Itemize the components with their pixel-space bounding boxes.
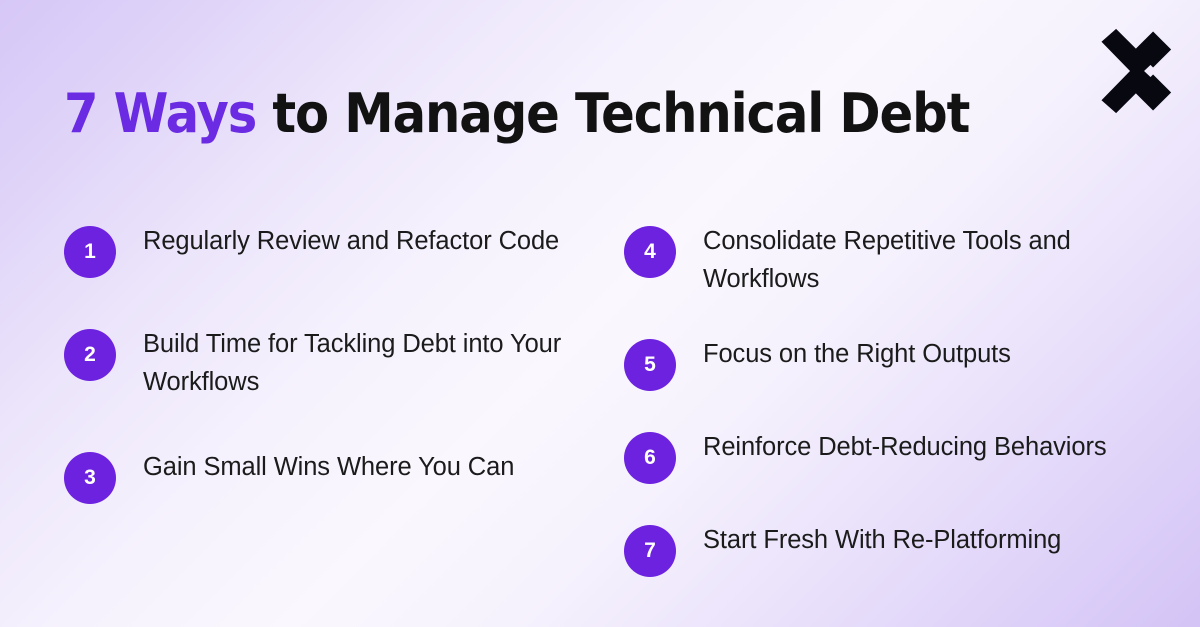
list-item-number-badge: 6 — [624, 432, 676, 484]
list-item-label: Consolidate Repetitive Tools and Workflo… — [703, 222, 1154, 298]
list-item: 7 Start Fresh With Re-Platforming — [624, 521, 1154, 577]
list-item: 1 Regularly Review and Refactor Code — [64, 222, 624, 278]
list-item-number-badge: 5 — [624, 339, 676, 391]
list-item-label: Reinforce Debt-Reducing Behaviors — [703, 428, 1107, 466]
list-item: 4 Consolidate Repetitive Tools and Workf… — [624, 222, 1154, 298]
list-item-number-badge: 7 — [624, 525, 676, 577]
infographic-poster: 7 Ways to Manage Technical Debt 1 Regula… — [0, 0, 1200, 627]
page-title-rest: to Manage Technical Debt — [256, 82, 969, 145]
x-mark-logo — [1086, 28, 1172, 114]
list-item-number-badge: 3 — [64, 452, 116, 504]
list-item: 2 Build Time for Tackling Debt into Your… — [64, 325, 624, 401]
list-item-label: Gain Small Wins Where You Can — [143, 448, 514, 486]
list-item: 3 Gain Small Wins Where You Can — [64, 448, 624, 504]
list-column-right: 4 Consolidate Repetitive Tools and Workf… — [624, 206, 1154, 577]
page-title-accent: 7 Ways — [64, 82, 256, 145]
list-item-label: Start Fresh With Re-Platforming — [703, 521, 1061, 559]
list-column-left: 1 Regularly Review and Refactor Code 2 B… — [64, 206, 624, 504]
list-item-label: Build Time for Tackling Debt into Your W… — [143, 325, 613, 401]
list-columns: 1 Regularly Review and Refactor Code 2 B… — [64, 206, 1154, 577]
list-item-label: Focus on the Right Outputs — [703, 335, 1011, 373]
list-item-number-badge: 2 — [64, 329, 116, 381]
list-item-number-badge: 4 — [624, 226, 676, 278]
list-item: 6 Reinforce Debt-Reducing Behaviors — [624, 428, 1154, 484]
page-title: 7 Ways to Manage Technical Debt — [64, 83, 969, 145]
list-item: 5 Focus on the Right Outputs — [624, 335, 1154, 391]
list-item-label: Regularly Review and Refactor Code — [143, 222, 559, 260]
list-item-number-badge: 1 — [64, 226, 116, 278]
